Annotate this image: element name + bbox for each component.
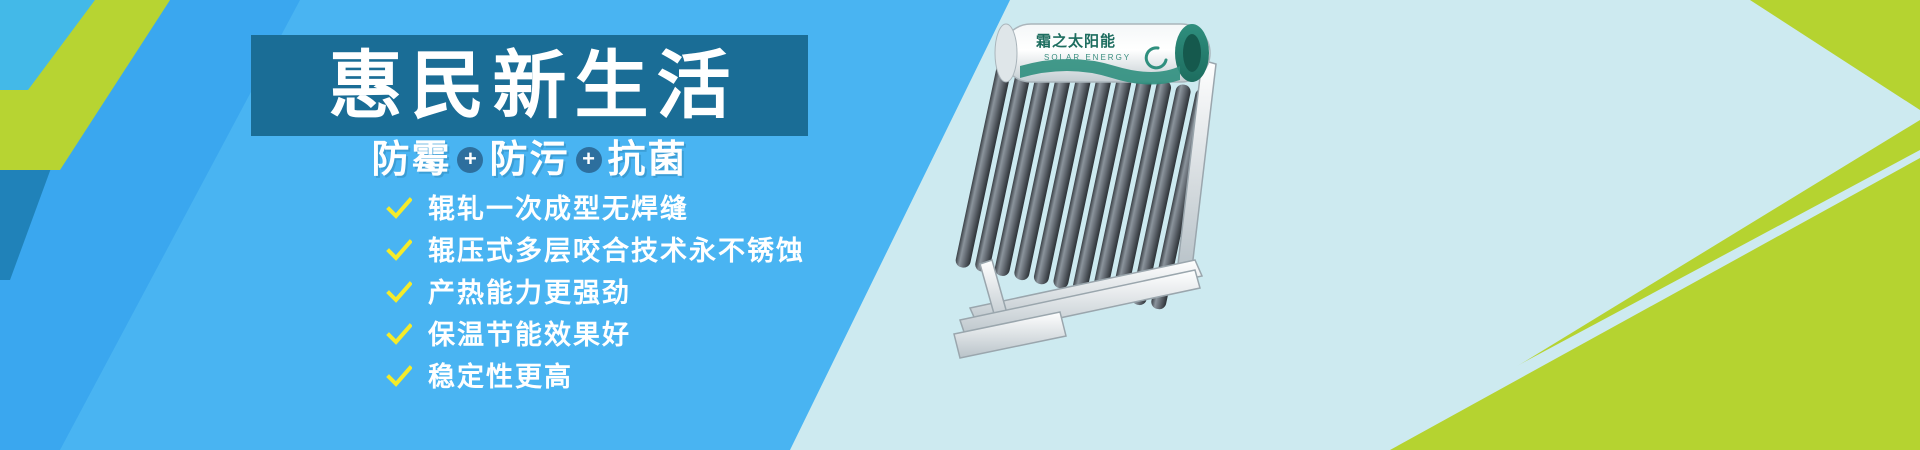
list-item: 产热能力更强劲	[386, 276, 805, 310]
subtitle-part-2: 防污	[489, 141, 569, 179]
plus-icon: +	[576, 147, 602, 173]
water-tank: 霜之太阳能 SOLAR ENERGY	[995, 24, 1210, 85]
subtitle-part-3: 抗菌	[608, 141, 688, 179]
subtitle-part-1: 防霉	[371, 141, 451, 179]
feature-label: 保温节能效果好	[428, 322, 631, 349]
feature-label: 辊压式多层咬合技术永不锈蚀	[428, 238, 805, 265]
list-item: 保温节能效果好	[386, 318, 805, 352]
feature-label: 稳定性更高	[428, 364, 573, 391]
list-item: 稳定性更高	[386, 360, 805, 394]
product-image-solar-water-heater: 霜之太阳能 SOLAR ENERGY	[940, 8, 1290, 368]
headline-box: 惠民新生活	[251, 35, 808, 136]
feature-list: 辊轧一次成型无焊缝 辊压式多层咬合技术永不锈蚀 产热能力更强劲 保温节能效果好	[386, 192, 805, 394]
list-item: 辊压式多层咬合技术永不锈蚀	[386, 234, 805, 268]
plus-icon: +	[457, 147, 483, 173]
page-title: 惠民新生活	[321, 49, 739, 123]
svg-text:霜之太阳能: 霜之太阳能	[1035, 32, 1116, 50]
svg-text:SOLAR ENERGY: SOLAR ENERGY	[1044, 53, 1131, 62]
feature-label: 辊轧一次成型无焊缝	[428, 196, 689, 223]
check-icon	[386, 364, 412, 390]
check-icon	[386, 238, 412, 264]
check-icon	[386, 322, 412, 348]
list-item: 辊轧一次成型无焊缝	[386, 192, 805, 226]
check-icon	[386, 280, 412, 306]
feature-label: 产热能力更强劲	[428, 280, 631, 307]
promo-banner: 惠民新生活 防霉 + 防污 + 抗菌 辊轧一次成型无焊缝 辊压式多层咬合技术永不…	[0, 0, 1920, 450]
check-icon	[386, 196, 412, 222]
subtitle-row: 防霉 + 防污 + 抗菌	[251, 141, 808, 179]
